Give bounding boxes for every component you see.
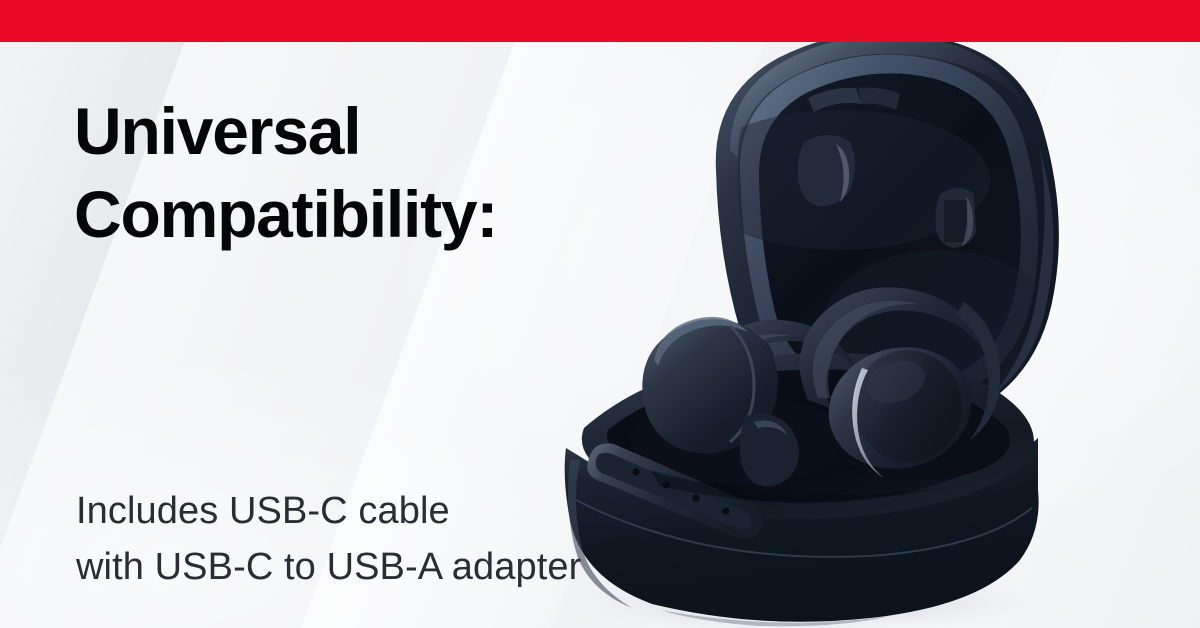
- subtitle-text: Includes USB-C cable with USB-C to USB-A…: [76, 483, 581, 595]
- top-accent-bar: [0, 0, 1200, 42]
- text-column: Universal Compatibility: Includes USB-C …: [74, 42, 694, 628]
- promo-banner: Universal Compatibility: Includes USB-C …: [0, 0, 1200, 628]
- lid-tab-right: [936, 188, 977, 248]
- led-indicator: [722, 507, 729, 514]
- page-title: Universal Compatibility:: [74, 90, 497, 256]
